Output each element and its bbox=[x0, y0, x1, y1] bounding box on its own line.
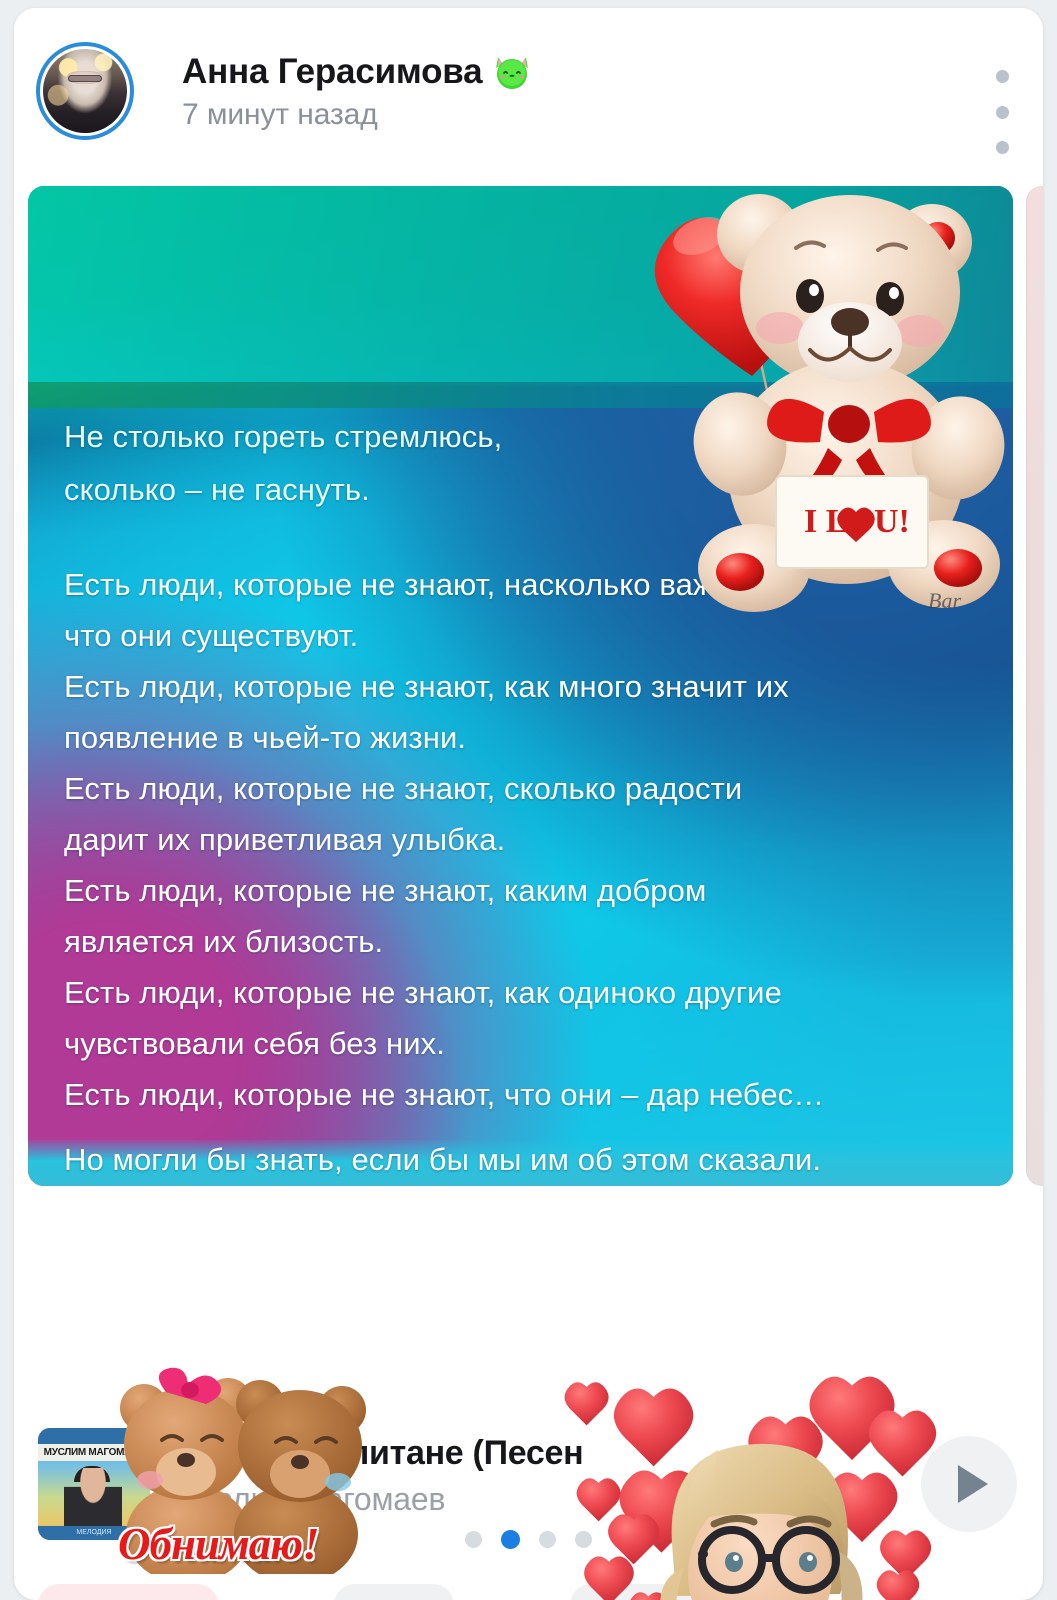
poem-line: Есть люди, которые не знают, как одиноко… bbox=[64, 967, 969, 1018]
carousel-slide-current[interactable]: Не столько гореть стремлюсь, сколько – н… bbox=[28, 186, 1013, 1186]
green-cat-emoji bbox=[492, 53, 532, 91]
play-button[interactable] bbox=[921, 1436, 1017, 1532]
pagination-dot-1[interactable] bbox=[465, 1531, 482, 1548]
hug-sticker-label: Обнимаю! bbox=[118, 1518, 378, 1576]
author-name[interactable]: Анна Герасимова bbox=[182, 52, 482, 92]
poem-intro-line-1: Не столько гореть стремлюсь, bbox=[64, 410, 969, 463]
carousel-next-slide-peek[interactable] bbox=[1026, 186, 1043, 1186]
poem-body: Есть люди, которые не знают, насколько в… bbox=[64, 559, 969, 1185]
poem-line: Есть люди, которые не знают, что они – д… bbox=[64, 1069, 969, 1120]
avatar-photo bbox=[43, 49, 127, 133]
reaction-like-button[interactable] bbox=[38, 1584, 218, 1600]
poem-line: чувствовали себя без них. bbox=[64, 1018, 969, 1069]
poem-line: дарит их приветливая улыбка. bbox=[64, 814, 969, 865]
poem-line: появление в чьей-то жизни. bbox=[64, 712, 969, 763]
poem-intro: Не столько гореть стремлюсь, сколько – н… bbox=[64, 410, 969, 516]
poem-line: Есть люди, которые не знают, каким добро… bbox=[64, 865, 969, 916]
reaction-bar[interactable] bbox=[14, 1580, 1043, 1600]
poem-text: Не столько гореть стремлюсь, сколько – н… bbox=[64, 410, 969, 1185]
kebab-menu-icon[interactable] bbox=[985, 70, 1019, 154]
poem-line: Есть люди, которые не знают, как много з… bbox=[64, 661, 969, 712]
poem-intro-line-2: сколько – не гаснуть. bbox=[64, 463, 969, 516]
post-screen: Анна Герасимова bbox=[0, 0, 1057, 1600]
poem-final-line: Но могли бы знать, если бы мы им об этом… bbox=[64, 1134, 969, 1185]
slide-background-band bbox=[28, 382, 1013, 408]
pagination-dot-2-active[interactable] bbox=[501, 1530, 520, 1549]
media-carousel[interactable]: Не столько гореть стремлюсь, сколько – н… bbox=[14, 170, 1043, 1382]
slide-background-top-shade bbox=[28, 186, 1013, 386]
post-timestamp: 7 минут назад bbox=[182, 98, 532, 132]
avatar[interactable] bbox=[36, 42, 134, 140]
author-block: Анна Герасимова bbox=[182, 52, 532, 132]
post-card: Анна Герасимова bbox=[14, 8, 1043, 1600]
poem-line: что они существуют. bbox=[64, 610, 969, 661]
pagination-dot-3[interactable] bbox=[539, 1531, 556, 1548]
poem-line: является их близость. bbox=[64, 916, 969, 967]
poem-line: Есть люди, которые не знают, насколько в… bbox=[64, 559, 969, 610]
reaction-comment-button[interactable] bbox=[334, 1584, 454, 1600]
pagination-dot-4[interactable] bbox=[575, 1531, 592, 1548]
poem-line: Есть люди, которые не знают, сколько рад… bbox=[64, 763, 969, 814]
reaction-share-button[interactable] bbox=[570, 1584, 730, 1600]
play-icon bbox=[958, 1465, 988, 1503]
post-header: Анна Герасимова bbox=[14, 8, 1043, 170]
